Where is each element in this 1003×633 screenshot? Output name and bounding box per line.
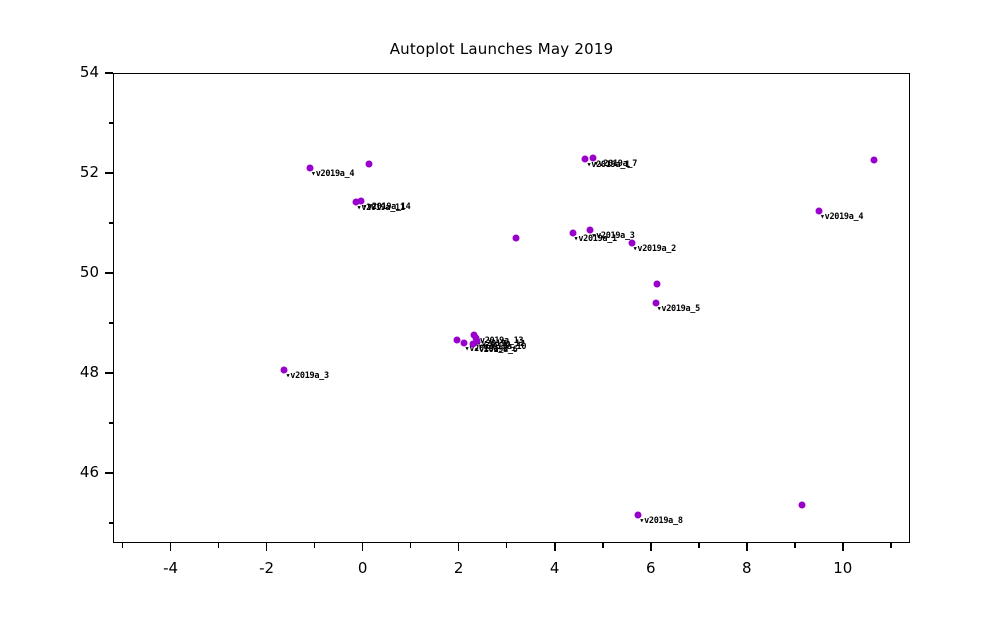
axis-tick [109,322,114,324]
axis-tick [109,222,114,224]
y-tick-label: 54 [57,63,99,81]
data-point-label: ▾v2019a_1 [586,160,629,170]
data-point-label: ▾v2019a_14 [362,202,410,212]
map-plot-area[interactable]: ▾v2019a_4▾v2019a_11▾v2019a_14▾v2019a_3▾v… [113,73,910,543]
x-tick-label: 6 [629,559,673,577]
axis-tick [698,543,700,548]
axis-tick [122,543,124,548]
axis-tick [109,122,114,124]
data-point-label: ▾v2019a_3 [285,371,328,381]
axis-tick [105,372,113,374]
y-tick-label: 52 [57,163,99,181]
data-point-label: ▾v2019a_4 [820,212,863,222]
y-tick-label: 50 [57,263,99,281]
axis-tick [890,543,892,548]
axis-tick [109,522,114,524]
axis-tick [650,543,652,551]
x-tick-label: 4 [533,559,577,577]
axis-tick [109,422,114,424]
data-point-label: ▾v2019a_2 [633,244,676,254]
axis-tick [105,272,113,274]
data-point-marker[interactable] [870,157,877,164]
data-point-label: ▾v2019a_5 [657,304,700,314]
axis-tick [105,172,113,174]
coastline-map [114,74,909,542]
x-tick-label: -2 [245,559,289,577]
x-tick-label: -4 [149,559,193,577]
axis-tick [170,543,172,551]
data-point-label: ▾v2019a_6 [474,345,517,355]
x-tick-label: 8 [725,559,769,577]
axis-tick [842,543,844,551]
data-point-marker[interactable] [798,502,805,509]
axis-tick [746,543,748,551]
data-point-label: ▾v2019a_4 [311,169,354,179]
axis-tick [105,472,113,474]
chart-title: Autoplot Launches May 2019 [0,40,1003,58]
x-tick-label: 10 [821,559,865,577]
x-tick-label: 0 [341,559,385,577]
y-tick-label: 46 [57,463,99,481]
axis-tick [105,72,113,74]
axis-tick [506,543,508,548]
x-tick-label: 2 [437,559,481,577]
axis-tick [794,543,796,548]
axis-tick [314,543,316,548]
data-point-label: ▾v2019a_8 [639,516,682,526]
data-point-marker[interactable] [513,235,520,242]
axis-tick [458,543,460,551]
y-tick-label: 48 [57,363,99,381]
axis-tick [410,543,412,548]
axis-tick [362,543,364,551]
data-point-marker[interactable] [654,281,661,288]
figure-canvas: Autoplot Launches May 2019 [0,0,1003,633]
axis-tick [266,543,268,551]
axis-tick [602,543,604,548]
data-point-marker[interactable] [366,161,373,168]
axis-tick [218,543,220,548]
axis-tick [554,543,556,551]
